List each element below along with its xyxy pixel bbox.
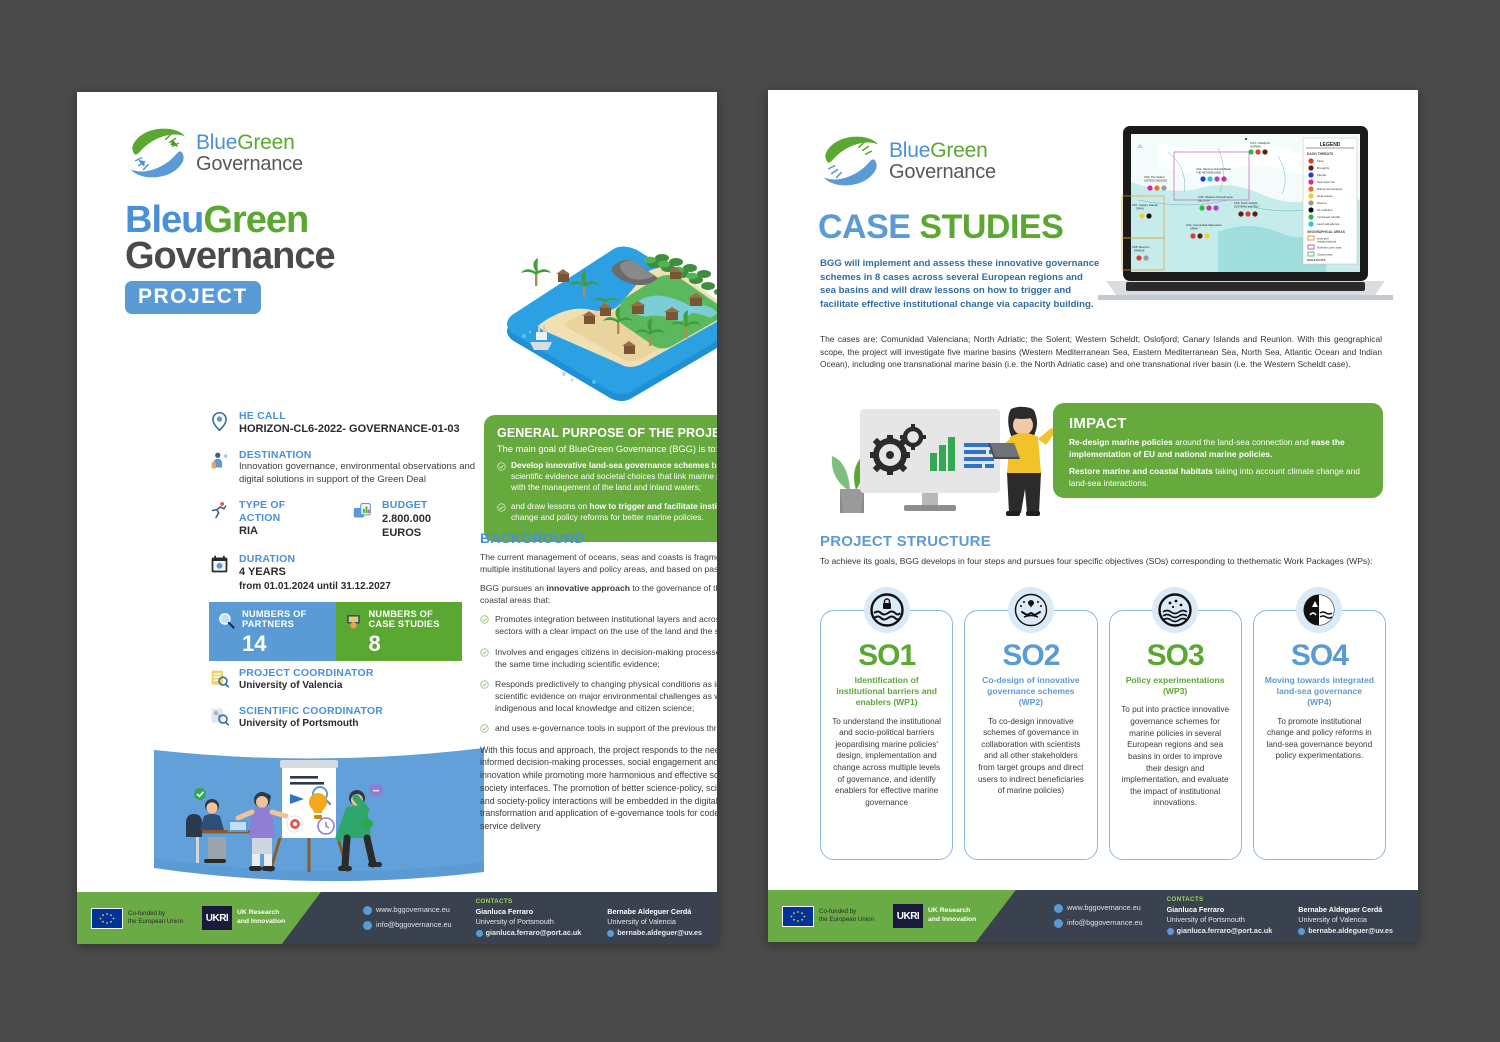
title-governance: Governance <box>125 238 335 274</box>
contact-email[interactable]: gianluca.ferraro@port.ac.uk <box>476 928 582 938</box>
fact-he-call: HE CALL HORIZON-CL6-2022- GOVERNANCE-01-… <box>209 410 479 436</box>
contact-org: University of Valencia <box>1298 915 1393 925</box>
coordinator-value: University of Valencia <box>239 679 374 692</box>
svg-text:SPAIN: SPAIN <box>1190 227 1198 231</box>
page-title: BleuGreen Governance PROJECT <box>125 202 335 314</box>
purpose-heading: GENERAL PURPOSE OF THE PROJECT <box>497 426 717 440</box>
stat-label: NUMBERS OFPARTNERS <box>242 609 307 630</box>
svg-text:Land subsidence: Land subsidence <box>1317 222 1340 226</box>
magnifier-icon <box>217 611 236 630</box>
so1-badge <box>864 587 910 633</box>
svg-text:CS3. The Solent: CS3. The Solent <box>1144 175 1165 179</box>
case-studies-lead: BGG will implement and assess these inno… <box>820 257 1100 311</box>
contact-org: University of Valencia <box>607 917 702 927</box>
stat-case-studies: NUMBERS OFCASE STUDIES 8 <box>336 602 463 661</box>
svg-text:•••: ••• <box>373 789 379 795</box>
bullet-text: Responds predictively to changing physic… <box>495 678 717 714</box>
project-structure-section: PROJECT STRUCTURE To achieve its goals, … <box>820 533 1385 567</box>
ukri-text: UK Researchand Innovation <box>237 909 293 927</box>
so3-badge <box>1152 587 1198 633</box>
fact-value: RIA <box>239 524 285 538</box>
svg-text:Air pollution: Air pollution <box>1317 208 1333 212</box>
contact-email-text: bernabe.aldeguer@uv.es <box>617 928 702 938</box>
eu-line1: Co-funded by <box>819 908 881 916</box>
bullet-text: and uses e-governance tools in support o… <box>495 722 717 734</box>
contact-card: Gianluca Ferraro University of Portsmout… <box>1167 905 1273 937</box>
fact-type-of-action: TYPE OFACTION RIA <box>209 499 334 540</box>
svg-text:Floods: Floods <box>1317 173 1327 177</box>
contact-org: University of Portsmouth <box>476 917 582 927</box>
bluegreen-logo-mark-icon <box>127 124 189 182</box>
coordinator-value: University of Portsmouth <box>239 717 383 730</box>
runner-icon <box>209 500 230 521</box>
case-studies-poster-page: BlueGreen Governance CASE STUDIES BGG wi… <box>768 90 1418 942</box>
svg-text:CS5. Western Scheldt basin: CS5. Western Scheldt basin <box>1198 195 1233 199</box>
logo-wordmark: BlueGreen Governance <box>196 132 303 174</box>
logo-governance-text: Governance <box>889 162 996 182</box>
impact-p1-bold: Re-design marine policies <box>1069 437 1173 447</box>
footer-contacts: CONTACTS Gianluca Ferraro University of … <box>1167 896 1393 937</box>
so-body: To co-design innovative schemes of gover… <box>975 716 1086 797</box>
coordinator-label: SCIENTIFIC COORDINATOR <box>239 705 383 717</box>
contact-email[interactable]: gianluca.ferraro@port.ac.uk <box>1167 926 1273 936</box>
so-card-1[interactable]: SO1 Identification of institutional barr… <box>820 610 953 860</box>
fact-label: DESTINATION <box>239 449 479 461</box>
stats-row: NUMBERS OFPARTNERS 14 NUMBERS OFCASE STU… <box>209 602 462 661</box>
bg-p2-pre: BGG pursues an <box>480 583 546 593</box>
project-structure-intro: To achieve its goals, BGG develops in fo… <box>820 555 1385 567</box>
ukri-logo: UKRI <box>202 906 232 930</box>
page-footer-left: Co-funded bythe European Union UKRI UK R… <box>77 892 717 944</box>
land-sea-icon <box>1302 593 1336 627</box>
bg-p2-bold: innovative approach <box>546 583 630 593</box>
map-legend-title: LEGEND <box>1320 142 1341 148</box>
check-circle-icon <box>497 503 506 512</box>
svg-text:Rising temperature: Rising temperature <box>1317 187 1343 191</box>
background-bullet: Promotes integration between institution… <box>480 613 717 637</box>
so-card-3[interactable]: SO3 Policy experimentations (WP3) To put… <box>1109 610 1242 860</box>
impact-p1: Re-design marine policies around the lan… <box>1069 437 1367 461</box>
bluegreen-logo-right: BlueGreen Governance <box>820 132 996 190</box>
ukri-line2: and Innovation <box>237 918 293 927</box>
globe-icon <box>1054 904 1063 913</box>
check-circle-icon <box>480 724 489 733</box>
contact-email[interactable]: bernabe.aldeguer@uv.es <box>607 928 702 938</box>
svg-text:THE NETHERLANDS: THE NETHERLANDS <box>1196 171 1221 175</box>
contacts-title: CONTACTS <box>476 898 702 905</box>
background-section: BACKGROUND The current management of oce… <box>480 530 717 833</box>
stat-value: 14 <box>242 633 307 655</box>
footer-links: www.bggovernance.eu info@bggovernance.eu <box>363 903 452 932</box>
svg-text:GEOGRAPHICAL AREAS: GEOGRAPHICAL AREAS <box>1307 230 1345 234</box>
purpose-bullet-pre: and draw lessons on <box>511 501 589 511</box>
svg-text:HIGHLIGHTS: HIGHLIGHTS <box>1307 258 1326 262</box>
eu-flag-icon <box>91 908 123 929</box>
handshake-codesign-icon <box>1014 593 1048 627</box>
bluegreen-logo-left: BlueGreen Governance <box>127 124 303 182</box>
coordinators: PROJECT COORDINATOR University of Valenc… <box>209 667 469 743</box>
so-subtitle: Identification of institutional barriers… <box>831 675 942 709</box>
so-subtitle: Policy experimentations (WP3) <box>1120 675 1231 697</box>
impact-p2: Restore marine and coastal habitats taki… <box>1069 466 1367 490</box>
ukri-line1: UK Research <box>237 909 293 918</box>
science-search-icon <box>209 706 230 727</box>
fact-dates: from 01.01.2024 until 31.12.2027 <box>239 580 391 593</box>
fact-label: BUDGET <box>382 499 431 511</box>
purpose-bullet-bold: Develop innovative land-sea governance s… <box>511 460 709 470</box>
fact-value: HORIZON-CL6-2022- GOVERNANCE-01-03 <box>239 422 460 436</box>
bluegreen-logo-mark-icon <box>820 132 882 190</box>
case-studies-title: CASE STUDIES <box>818 208 1063 247</box>
ukri-logo: UKRI <box>893 904 923 928</box>
coordinator-label: PROJECT COORDINATOR <box>239 667 374 679</box>
svg-text:CS6. North Adriatic: CS6. North Adriatic <box>1234 201 1258 205</box>
background-p2: BGG pursues an innovative approach to th… <box>480 583 717 607</box>
purpose-bullet: and draw lessons on how to trigger and f… <box>497 501 717 523</box>
eu-funding-text: Co-funded bythe European Union <box>128 910 190 926</box>
contact-name: Gianluca Ferraro <box>1167 905 1273 915</box>
impact-card: IMPACT Re-design marine policies around … <box>1053 403 1383 498</box>
destination-person-icon <box>209 450 230 471</box>
fact-label: TYPE OFACTION <box>239 499 285 523</box>
budget-icon <box>352 500 373 521</box>
so-number: SO3 <box>1120 641 1231 671</box>
website-text: www.bggovernance.eu <box>1067 901 1141 916</box>
contact-org: University of Portsmouth <box>1167 915 1273 925</box>
purpose-subheading: The main goal of BlueGreen Governance (B… <box>497 444 717 454</box>
logo-governance-text: Governance <box>196 154 303 174</box>
svg-text:Sea level rise: Sea level rise <box>1317 180 1335 184</box>
email-text: info@bggovernance.eu <box>376 918 452 933</box>
contact-email[interactable]: bernabe.aldeguer@uv.es <box>1298 926 1393 936</box>
purpose-bullet-bold: how to trigger and facilitate institutio… <box>589 501 717 511</box>
logo-green-text: Green <box>930 139 987 162</box>
laptop-map-illustration: LEGEND EACH THREATS Fires Droughts Flood… <box>1098 122 1393 312</box>
location-pin-icon <box>209 411 230 432</box>
svg-text:CS7. Canary Islands: CS7. Canary Islands <box>1132 203 1158 207</box>
fact-value: 4 YEARS <box>239 565 391 579</box>
background-bullet: Responds predictively to changing physic… <box>480 678 717 714</box>
so-subtitle: Moving towards integrated land-sea gover… <box>1264 675 1375 709</box>
so-number: SO4 <box>1264 641 1375 671</box>
footer-email[interactable]: info@bggovernance.eu <box>1054 916 1143 931</box>
contact-email-text: gianluca.ferraro@port.ac.uk <box>1177 926 1273 936</box>
so-number: SO1 <box>831 641 942 671</box>
svg-text:UNITED KINGDOM: UNITED KINGDOM <box>1144 179 1167 183</box>
globe-icon <box>363 906 372 915</box>
logo-blue-text: Blue <box>196 131 237 154</box>
background-heading: BACKGROUND <box>480 530 717 546</box>
mail-icon <box>363 921 372 930</box>
eu-funding-text: Co-funded bythe European Union <box>819 908 881 924</box>
logo-blue-text: Blue <box>889 139 930 162</box>
background-p1: The current management of oceans, seas a… <box>480 552 717 576</box>
svg-text:NORWAY: NORWAY <box>1250 145 1262 149</box>
bullet-text: Promotes integration between institution… <box>495 613 717 637</box>
check-circle-icon <box>480 615 489 624</box>
svg-text:⌂: ⌂ <box>1138 144 1142 150</box>
contact-email-text: bernabe.aldeguer@uv.es <box>1308 926 1393 936</box>
svg-text:CS4. Oslofjord: CS4. Oslofjord <box>1250 141 1270 145</box>
bullet-text: Involves and engages citizens in decisio… <box>495 646 717 670</box>
so-card-4[interactable]: SO4 Moving towards integrated land-sea g… <box>1253 610 1386 860</box>
contact-card: Bernabe Aldeguer Cerdá University of Val… <box>1298 905 1393 937</box>
check-circle-icon <box>497 462 506 471</box>
workshop-illustration: ••• <box>154 742 484 887</box>
background-bullet: Involves and engages citizens in decisio… <box>480 646 717 670</box>
mail-icon <box>1298 928 1305 935</box>
stat-label: NUMBERS OFCASE STUDIES <box>369 609 440 630</box>
svg-text:Closed seas: Closed seas <box>1317 253 1333 257</box>
eu-line2: the European Union <box>128 918 190 926</box>
impact-heading: IMPACT <box>1069 415 1367 432</box>
email-text: info@bggovernance.eu <box>1067 916 1143 931</box>
footer-website[interactable]: www.bggovernance.eu <box>1054 901 1143 916</box>
so-cards-row: SO1 Identification of institutional barr… <box>820 610 1386 860</box>
footer-links: www.bggovernance.eu info@bggovernance.eu <box>1054 901 1143 930</box>
case-studies-icon <box>344 611 363 630</box>
fact-text: Innovation governance, environmental obs… <box>239 461 479 486</box>
fact-label: DURATION <box>239 553 391 565</box>
scientific-coordinator: SCIENTIFIC COORDINATOR University of Por… <box>209 705 469 730</box>
svg-text:CS1. Comunidad Valenciana: CS1. Comunidad Valenciana <box>1186 223 1222 227</box>
svg-text:Storms: Storms <box>1317 201 1327 205</box>
page-footer-right: Co-funded bythe European Union UKRI UK R… <box>768 890 1418 942</box>
contact-name: Bernabe Aldeguer Cerdá <box>1298 905 1393 915</box>
footer-email[interactable]: info@bggovernance.eu <box>363 918 452 933</box>
stat-partners: NUMBERS OFPARTNERS 14 <box>209 602 336 661</box>
eu-line1: Co-funded by <box>128 910 190 918</box>
contact-email-text: gianluca.ferraro@port.ac.uk <box>486 928 582 938</box>
project-coordinator: PROJECT COORDINATOR University of Valenc… <box>209 667 469 692</box>
svg-text:Northern open seas: Northern open seas <box>1317 246 1342 250</box>
purpose-bullet: Develop innovative land-sea governance s… <box>497 460 717 494</box>
fact-budget: BUDGET 2.800.000EUROS <box>352 499 431 540</box>
so4-badge <box>1296 587 1342 633</box>
svg-text:Fires: Fires <box>1317 159 1324 163</box>
svg-text:Increased rainfall: Increased rainfall <box>1317 215 1340 219</box>
so-body: To put into practice innovative governan… <box>1120 704 1231 809</box>
footer-content: Co-funded bythe European Union UKRI UK R… <box>77 892 717 944</box>
fact-value: 2.800.000EUROS <box>382 512 431 541</box>
marine-lock-icon <box>870 593 904 627</box>
cases-description: The cases are: Comunidad Valenciana; Nor… <box>820 333 1382 371</box>
impact-illustration <box>818 395 1068 525</box>
fact-pair-action-budget: TYPE OFACTION RIA BUDGET 2.800.000EUROS <box>209 499 479 553</box>
svg-text:SLOVENIA and ITALY: SLOVENIA and ITALY <box>1234 205 1260 209</box>
plant-icon <box>832 456 864 513</box>
project-structure-heading: PROJECT STRUCTURE <box>820 533 1385 550</box>
footer-contacts: CONTACTS Gianluca Ferraro University of … <box>476 898 702 939</box>
svg-text:Droughts: Droughts <box>1317 166 1330 170</box>
so2-badge <box>1008 587 1054 633</box>
so-card-2[interactable]: SO2 Co-design of innovative governance s… <box>964 610 1097 860</box>
mail-icon <box>476 930 483 937</box>
fact-duration: DURATION 4 YEARS from 01.01.2024 until 3… <box>209 553 479 592</box>
ukri-line1: UK Research <box>928 907 984 916</box>
contact-card: Gianluca Ferraro University of Portsmout… <box>476 907 582 939</box>
mail-icon <box>1054 919 1063 928</box>
svg-text:SPAIN: SPAIN <box>1136 207 1144 211</box>
svg-text:EACH THREATS: EACH THREATS <box>1307 152 1334 156</box>
contact-name: Bernabe Aldeguer Cerdá <box>607 907 702 917</box>
ukri-text: UK Researchand Innovation <box>928 907 984 925</box>
contact-name: Gianluca Ferraro <box>476 907 582 917</box>
svg-text:CS8. Reunion: CS8. Reunion <box>1132 245 1150 249</box>
so-subtitle: Co-design of innovative governance schem… <box>975 675 1086 709</box>
so-number: SO2 <box>975 641 1086 671</box>
logo-green-text: Green <box>237 131 294 154</box>
svg-text:isolated islands: isolated islands <box>1317 240 1337 244</box>
svg-text:Heat waves: Heat waves <box>1317 194 1333 198</box>
svg-text:FRANCE: FRANCE <box>1134 249 1145 253</box>
impact-p2-bold: Restore marine and coastal habitats <box>1069 466 1213 476</box>
check-circle-icon <box>480 680 489 689</box>
title-studies: STUDIES <box>919 208 1063 246</box>
footer-website[interactable]: www.bggovernance.eu <box>363 903 452 918</box>
island-illustration <box>472 212 717 407</box>
project-poster-page: BlueGreen Governance BleuGreen Governanc… <box>77 92 717 944</box>
title-case: CASE <box>818 208 910 246</box>
general-purpose-card: GENERAL PURPOSE OF THE PROJECT The main … <box>484 415 717 542</box>
mail-icon <box>1167 928 1174 935</box>
stat-value: 8 <box>369 633 440 655</box>
calendar-icon <box>209 554 230 575</box>
background-closing: With this focus and approach, the projec… <box>480 744 717 833</box>
background-bullet: and uses e-governance tools in support o… <box>480 722 717 734</box>
purpose-bullet-rest: change and policy reforms for better mar… <box>511 512 704 522</box>
ukri-line2: and Innovation <box>928 916 984 925</box>
fact-destination: DESTINATION Innovation governance, envir… <box>209 449 479 486</box>
check-circle-icon <box>480 648 489 657</box>
svg-text:BELGIUM: BELGIUM <box>1198 199 1210 203</box>
eu-flag-icon <box>782 906 814 927</box>
svg-text:CS2. Western Scheldt Basin: CS2. Western Scheldt Basin <box>1196 167 1232 171</box>
policy-waves-icon <box>1158 593 1192 627</box>
so-body: To promote institutional change and poli… <box>1264 716 1375 763</box>
contact-card: Bernabe Aldeguer Cerdá University of Val… <box>607 907 702 939</box>
fact-label: HE CALL <box>239 410 460 422</box>
contacts-title: CONTACTS <box>1167 896 1393 903</box>
website-text: www.bggovernance.eu <box>376 903 450 918</box>
footer-content: Co-funded bythe European Union UKRI UK R… <box>768 890 1418 942</box>
document-search-icon <box>209 668 230 689</box>
project-facts: HE CALL HORIZON-CL6-2022- GOVERNANCE-01-… <box>209 410 479 606</box>
so-body: To understand the institutional and soci… <box>831 716 942 809</box>
mail-icon <box>607 930 614 937</box>
logo-wordmark: BlueGreen Governance <box>889 140 996 182</box>
impact-p1-mid: around the land-sea connection and <box>1173 437 1311 447</box>
project-badge: PROJECT <box>125 281 261 314</box>
eu-line2: the European Union <box>819 916 881 924</box>
